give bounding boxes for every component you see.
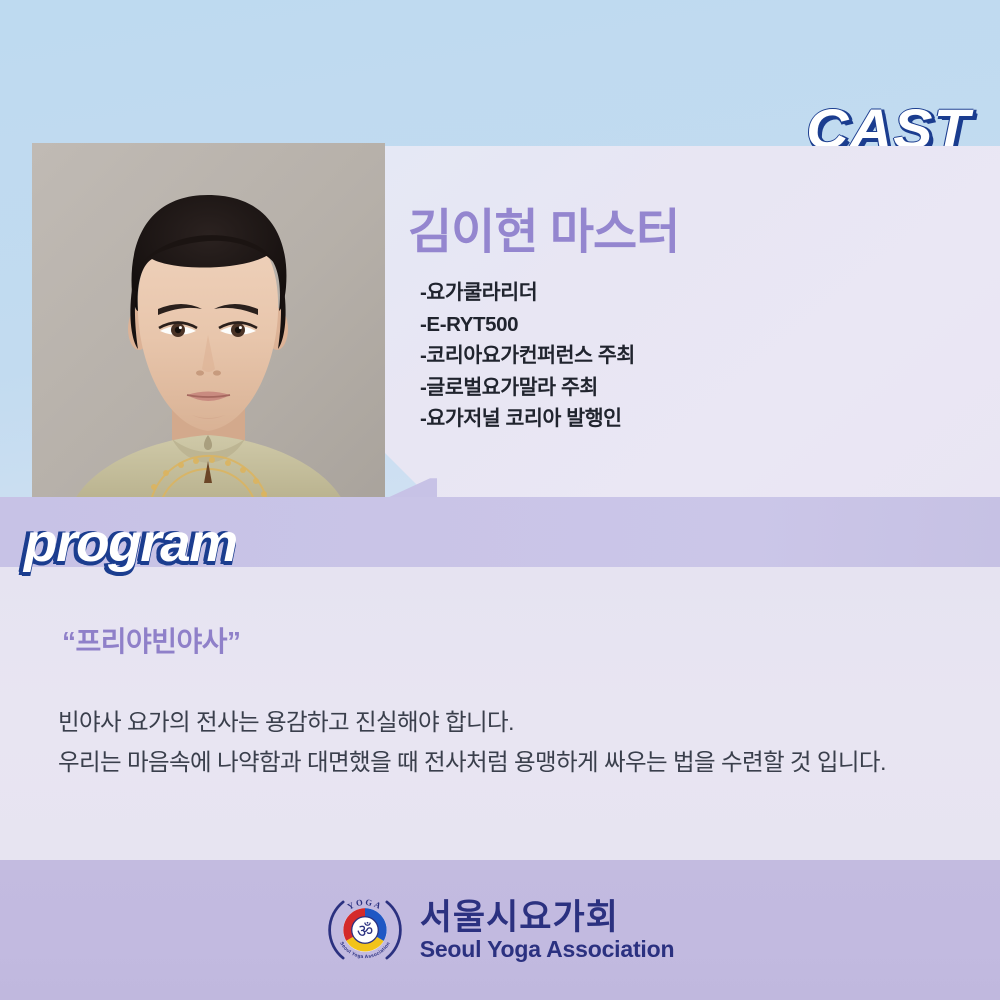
program-description-line: 우리는 마음속에 나약함과 대면했을 때 전사처럼 용맹하게 싸우는 법을 수련…: [58, 742, 988, 782]
credential-item: -요가쿨라리더: [420, 277, 980, 309]
program-title: “프리야빈야사”: [62, 620, 241, 660]
cast-name: 김이현 마스터: [408, 192, 679, 262]
seoul-yoga-association-emblem-icon: ॐ YOGA Seoul Yoga Association: [326, 891, 404, 969]
org-name-en: Seoul Yoga Association: [420, 938, 675, 961]
credential-item: -코리아요가컨퍼런스 주최: [420, 340, 980, 372]
credential-item: -요가저널 코리아 발행인: [420, 403, 980, 435]
credential-item: -E-RYT500: [420, 309, 980, 341]
program-section-label: program: [24, 512, 237, 574]
footer-bar: ॐ YOGA Seoul Yoga Association 서울시요가회 Seo…: [0, 860, 1000, 1000]
poster-canvas: CAST: [0, 0, 1000, 1000]
org-name-kr: 서울시요가회: [420, 900, 619, 935]
program-description-line: 빈야사 요가의 전사는 용감하고 진실해야 합니다.: [58, 702, 988, 742]
credential-item: -글로벌요가말라 주최: [420, 372, 980, 404]
cast-portrait-photo: [32, 143, 385, 505]
cast-credentials-list: -요가쿨라리더 -E-RYT500 -코리아요가컨퍼런스 주최 -글로벌요가말라…: [420, 277, 980, 435]
program-description: 빈야사 요가의 전사는 용감하고 진실해야 합니다. 우리는 마음속에 나약함과…: [58, 702, 988, 782]
footer-logo-text: 서울시요가회 Seoul Yoga Association: [420, 900, 675, 961]
svg-text:ॐ: ॐ: [357, 921, 373, 942]
